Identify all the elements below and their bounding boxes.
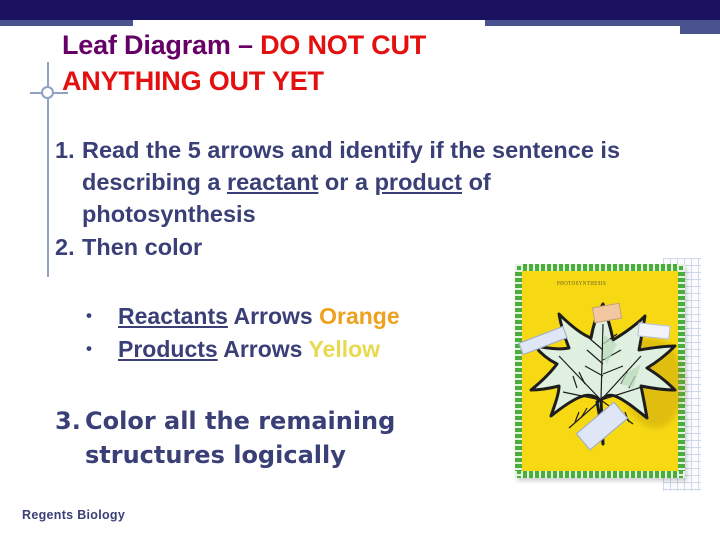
bullet-dot-icon: • xyxy=(86,307,118,324)
header-bar-accent-corner xyxy=(680,26,720,34)
footer-label: Regents Biology xyxy=(22,508,125,522)
crosshair-ring-icon xyxy=(41,86,54,99)
title-emphasis-line1: DO NOT CUT xyxy=(260,30,426,60)
bullet-products-middle: Arrows xyxy=(218,336,309,362)
page-title: Leaf Diagram – DO NOT CUT ANYTHING OUT Y… xyxy=(62,28,662,99)
step-1-seg-1-reactant: reactant xyxy=(227,169,318,195)
bullet-products-text: Products Arrows Yellow xyxy=(118,333,380,366)
bullet-products-label: Products xyxy=(118,336,218,362)
instruction-step-3: 3. Color all the remaining structures lo… xyxy=(55,404,495,472)
bullet-reactants-text: Reactants Arrows Orange xyxy=(118,300,400,333)
leaf-craft-project-photo: PHOTOSYNTHESIS xyxy=(505,258,701,491)
color-key-list: • Reactants Arrows Orange • Products Arr… xyxy=(86,300,516,365)
list-item-reactants: • Reactants Arrows Orange xyxy=(86,300,516,333)
poster-title-text: PHOTOSYNTHESIS xyxy=(557,281,606,288)
step-1-text: Read the 5 arrows and identify if the se… xyxy=(82,134,665,231)
step-3-text: Color all the remaining structures logic… xyxy=(85,404,495,472)
title-primary-text: Leaf Diagram – xyxy=(62,30,260,60)
bullet-reactants-label: Reactants xyxy=(118,303,228,329)
step-1-seg-3-product: product xyxy=(375,169,462,195)
step-3-number: 3. xyxy=(55,404,85,438)
list-item-step-1: 1. Read the 5 arrows and identify if the… xyxy=(55,134,665,231)
instruction-list: 1. Read the 5 arrows and identify if the… xyxy=(55,134,665,263)
bullet-dot-icon: • xyxy=(86,340,118,357)
list-item-products: • Products Arrows Yellow xyxy=(86,333,516,366)
header-bar-accent-left xyxy=(0,20,133,26)
header-bar-dark xyxy=(0,0,720,20)
bullet-reactants-middle: Arrows xyxy=(228,303,319,329)
bullet-reactants-color-word: Orange xyxy=(319,303,400,329)
step-2-number: 2. xyxy=(55,231,82,263)
list-item-step-3: 3. Color all the remaining structures lo… xyxy=(55,404,495,472)
title-emphasis-line2: ANYTHING OUT YET xyxy=(62,66,324,96)
step-1-number: 1. xyxy=(55,134,82,166)
step-1-seg-2: or a xyxy=(318,169,374,195)
bullet-products-color-word: Yellow xyxy=(308,336,380,362)
